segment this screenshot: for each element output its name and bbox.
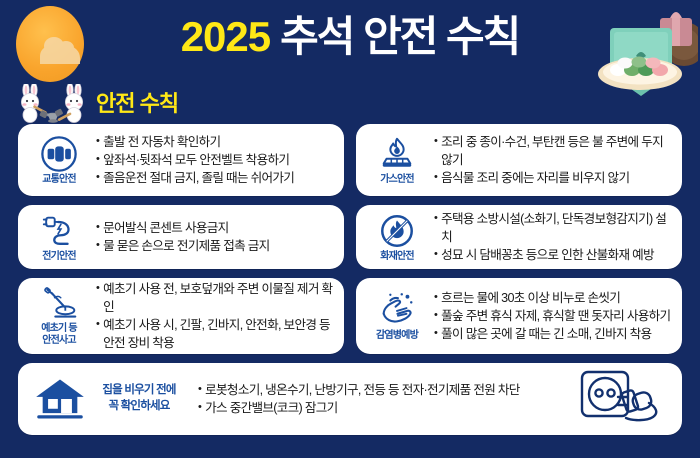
poster-root: 2025 추석 안전 수칙 안전 수칙 교통안전 (0, 0, 700, 458)
bullet-item: •출발 전 자동차 확인하기 (96, 133, 334, 151)
card-traffic-safety: 교통안전 •출발 전 자동차 확인하기 •앞좌석·뒷좌석 모두 안전벨트 착용하… (18, 124, 344, 196)
card-icon-block: 가스안전 (366, 135, 428, 186)
card-row-2: 전기안전 •문어발식 콘센트 사용금지 •물 묻은 손으로 전기제품 접촉 금지 (18, 205, 682, 269)
card-brush-cutter-safety: 예초기 등 안전사고 •예초기 사용 전, 보호덮개와 주변 이물질 제거 확인… (18, 278, 344, 354)
title-main: 추석 안전 수칙 (280, 16, 519, 58)
gas-stove-flame-icon (378, 135, 416, 173)
before-leaving-home-label: 집을 비우기 전에 꼭 확인하세요 (92, 383, 186, 414)
card-icon-block (28, 376, 92, 422)
card-row-4: 집을 비우기 전에 꼭 확인하세요 •로봇청소기, 냉온수기, 난방기구, 전등… (18, 363, 682, 435)
card-caption: 감염병예방 (376, 330, 418, 342)
card-caption: 가스안전 (380, 174, 414, 186)
card-icon-block: 교통안전 (28, 135, 90, 186)
card-bullets: •흐르는 물에 30초 이상 비누로 손씻기 •풀숲 주변 휴식 자제, 휴식할… (428, 289, 672, 344)
card-before-leaving-home: 집을 비우기 전에 꼭 확인하세요 •로봇청소기, 냉온수기, 난방기구, 전등… (18, 363, 682, 435)
section-label: 안전 수칙 (96, 86, 178, 118)
bullet-item: •풀숲 주변 휴식 자제, 휴식할 땐 돗자리 사용하기 (434, 307, 672, 325)
bullet-item: •성묘 시 담배꽁초 등으로 인한 산불화재 예방 (434, 246, 672, 264)
card-icon-block: 전기안전 (28, 212, 90, 263)
hand-washing-icon (378, 291, 416, 329)
bullet-item: •물 묻은 손으로 전기제품 접촉 금지 (96, 237, 334, 255)
bullet-item: •예초기 사용 전, 보호덮개와 주변 이물질 제거 확인 (96, 280, 334, 317)
bullet-item: •조리 중 종이·수건, 부탄캔 등은 불 주변에 두지 않기 (434, 133, 672, 170)
bullet-item: •흐르는 물에 30초 이상 비누로 손씻기 (434, 289, 672, 307)
bullet-item: •문어발식 콘센트 사용금지 (96, 219, 334, 237)
outlet-unplug-icon (576, 369, 672, 429)
card-fire-safety: 화재안전 •주택용 소방시설(소화기, 단독경보형감지기) 설치 •성묘 시 담… (356, 205, 682, 269)
card-bullets: •주택용 소방시설(소화기, 단독경보형감지기) 설치 •성묘 시 담배꽁초 등… (428, 210, 672, 265)
card-bullets: •조리 중 종이·수건, 부탄캔 등은 불 주변에 두지 않기 •음식물 조리 … (428, 133, 672, 188)
card-caption: 전기안전 (42, 251, 76, 263)
card-electric-safety: 전기안전 •문어발식 콘센트 사용금지 •물 묻은 손으로 전기제품 접촉 금지 (18, 205, 344, 269)
house-icon (34, 376, 86, 422)
title-year: 2025 (181, 16, 270, 58)
card-gas-safety: 가스안전 •조리 중 종이·수건, 부탄캔 등은 불 주변에 두지 않기 •음식… (356, 124, 682, 196)
page-title: 2025 추석 안전 수칙 (0, 8, 700, 66)
bullet-item: •앞좌석·뒷좌석 모두 안전벨트 착용하기 (96, 151, 334, 169)
card-infectious-disease-prevention: 감염병예방 •흐르는 물에 30초 이상 비누로 손씻기 •풀숲 주변 휴식 자… (356, 278, 682, 354)
rabbits-pounding-rice-cake-icon (14, 84, 92, 124)
card-row-3: 예초기 등 안전사고 •예초기 사용 전, 보호덮개와 주변 이물질 제거 확인… (18, 278, 682, 354)
card-icon-block: 화재안전 (366, 212, 428, 263)
card-row-1: 교통안전 •출발 전 자동차 확인하기 •앞좌석·뒷좌석 모두 안전벨트 착용하… (18, 124, 682, 196)
card-caption: 교통안전 (42, 174, 76, 186)
card-bullets: •문어발식 콘센트 사용금지 •물 묻은 손으로 전기제품 접촉 금지 (90, 219, 334, 256)
bullet-item: •졸음운전 절대 금지, 졸릴 때는 쉬어가기 (96, 169, 334, 187)
power-plug-cord-icon (40, 212, 78, 250)
no-fire-flame-icon (378, 212, 416, 250)
card-icon-block: 감염병예방 (366, 291, 428, 342)
card-bullets: •예초기 사용 전, 보호덮개와 주변 이물질 제거 확인 •예초기 사용 시,… (90, 280, 334, 353)
bullet-item: •풀이 많은 곳에 갈 때는 긴 소매, 긴바지 착용 (434, 325, 672, 343)
card-caption: 화재안전 (380, 251, 414, 263)
card-caption: 예초기 등 안전사고 (41, 323, 77, 346)
card-icon-block: 예초기 등 안전사고 (28, 286, 90, 346)
seatbelt-icon (40, 135, 78, 173)
bullet-item: •주택용 소방시설(소화기, 단독경보형감지기) 설치 (434, 210, 672, 247)
cards-grid: 교통안전 •출발 전 자동차 확인하기 •앞좌석·뒷좌석 모두 안전벨트 착용하… (18, 124, 682, 444)
brush-cutter-icon (41, 286, 77, 322)
bullet-item: •음식물 조리 중에는 자리를 비우지 않기 (434, 169, 672, 187)
bullet-item: •예초기 사용 시, 긴팔, 긴바지, 안전화, 보안경 등 안전 장비 착용 (96, 316, 334, 353)
card-bullets: •출발 전 자동차 확인하기 •앞좌석·뒷좌석 모두 안전벨트 착용하기 •졸음… (90, 133, 334, 188)
